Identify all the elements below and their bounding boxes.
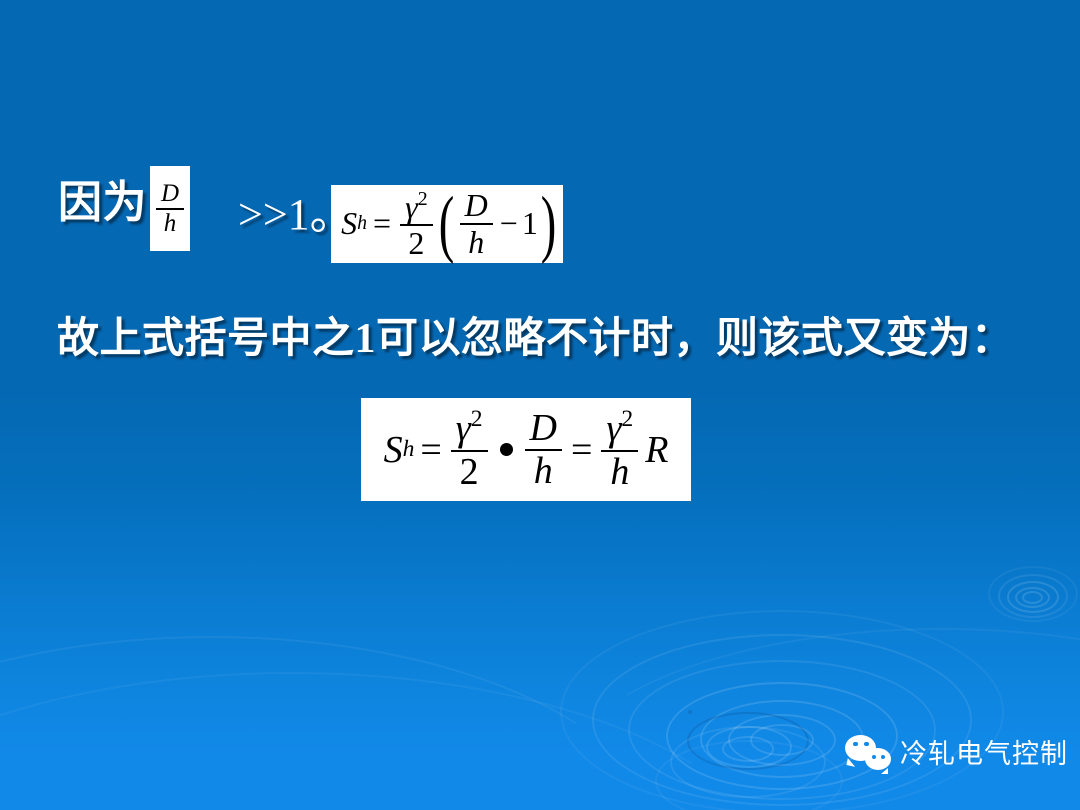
open-paren: (: [438, 197, 454, 251]
formula1-coefficient-fraction: γ2 2: [400, 189, 433, 260]
formula1-coef-numerator: γ2: [400, 189, 433, 223]
formula2-coef-denominator: 2: [455, 453, 484, 492]
ripple-ring: [628, 660, 936, 800]
fraction-numerator: D: [525, 409, 562, 448]
fraction-numerator: D: [156, 181, 184, 207]
ripple-ring: [750, 724, 814, 756]
multiplication-dot-icon: [500, 443, 513, 456]
fraction-denominator: h: [529, 452, 558, 491]
ripple-ring: [700, 700, 864, 778]
ripple-ring: [722, 736, 774, 762]
ripple-ring: [592, 634, 972, 806]
fraction-denominator: h: [463, 226, 489, 259]
ripple-ring: [670, 726, 826, 798]
gamma-symbol: γ: [606, 408, 621, 450]
formula2-coefficient-fraction: γ2 2: [451, 407, 488, 491]
exponent: 2: [418, 188, 428, 210]
formula2-equals-1: =: [420, 428, 441, 472]
exponent: 2: [621, 406, 633, 432]
wechat-eye: [864, 742, 869, 747]
formula2-result-numerator: γ2: [601, 407, 638, 448]
line2-sentence: 故上式括号中之1可以忽略不计时，则该式又变为：: [57, 312, 1014, 366]
ripple-ring: [706, 726, 792, 768]
ripple-ring: [728, 714, 836, 766]
wechat-bubble-small: [865, 748, 891, 770]
formula2-result-variable: R: [645, 428, 668, 472]
ripple-ring: [998, 574, 1068, 618]
formula-1-box: Sh = γ2 2 ( D h − 1 ): [331, 185, 563, 263]
formula1-one: 1: [522, 205, 538, 242]
formula1-lhs-subscript: h: [357, 212, 367, 235]
formula2-ratio-fraction: D h: [525, 409, 562, 491]
ripple-ring: [687, 712, 809, 770]
formula1-lhs-symbol: S: [341, 205, 357, 242]
wave-arc: [0, 636, 664, 810]
formula2-result-denominator: h: [605, 453, 634, 492]
formula2-lhs-symbol: S: [384, 428, 403, 472]
close-paren: ): [541, 197, 557, 251]
ripple-ring: [988, 566, 1078, 622]
formula2-lhs-subscript: h: [403, 436, 415, 463]
fraction-denominator: h: [159, 211, 182, 237]
formula2-equals-2: =: [571, 428, 592, 472]
slide-canvas: 因为 D h >>1。 Sh = γ2 2 ( D h −: [0, 0, 1080, 810]
formula2-coef-numerator: γ2: [451, 407, 488, 448]
ripple-ring: [560, 610, 1004, 810]
minus-sign: −: [500, 205, 518, 242]
wechat-eye: [853, 742, 858, 747]
formula-2-box: Sh = γ2 2 D h = γ2 h R: [361, 398, 691, 501]
wechat-eye: [872, 755, 876, 759]
ripple-ring: [655, 740, 843, 810]
ratio-d-over-h-box: D h: [150, 166, 190, 251]
ripple-ring: [1015, 587, 1050, 608]
ripple-ring: [1022, 591, 1043, 604]
line1-prefix-label: 因为: [58, 175, 147, 231]
watermark-label: 冷轧电气控制: [900, 732, 1068, 771]
gamma-symbol: γ: [456, 408, 471, 450]
gamma-symbol: γ: [405, 188, 418, 224]
formula1-equals: =: [373, 205, 391, 242]
watermark: 冷轧电气控制: [845, 732, 1068, 771]
wechat-icon: [845, 734, 891, 770]
formula1-coef-denominator: 2: [403, 227, 429, 260]
ripple-ring: [688, 710, 692, 714]
ripple-ring: [1007, 581, 1059, 613]
exponent: 2: [471, 406, 483, 432]
fraction-numerator: D: [460, 189, 493, 222]
formula2-result-fraction: γ2 h: [601, 407, 638, 491]
wave-arc: [0, 672, 784, 810]
wave-arc: [560, 628, 1080, 810]
wechat-eye: [881, 755, 885, 759]
fraction-d-h: D h: [156, 181, 184, 236]
formula1-ratio-fraction: D h: [460, 189, 493, 258]
